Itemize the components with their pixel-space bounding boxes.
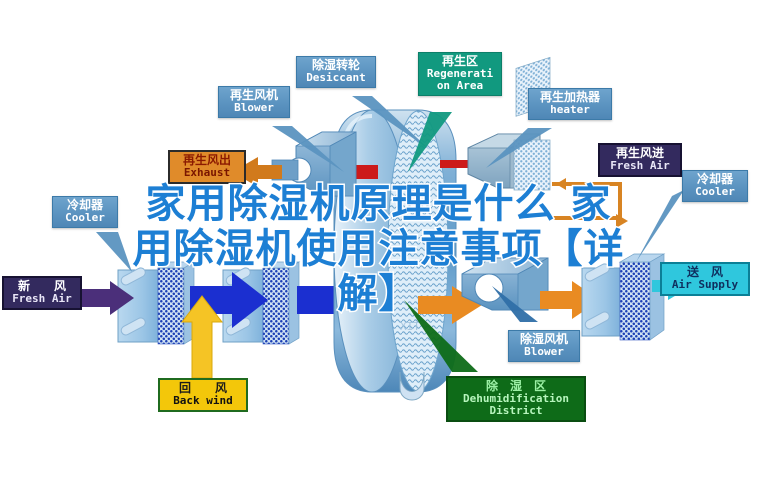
label-air-supply-cn: 送 风 [666,266,744,279]
dehumidifier-schematic-svg: XIT [0,0,757,488]
label-exhaust-en: Exhaust [174,167,240,179]
label-cooler-left-en: Cooler [57,212,113,224]
label-back-wind-cn: 回 风 [164,382,242,395]
label-regeneration-area: 再生区 Regenerati on Area [418,52,502,96]
label-regen-blower-en: Blower [223,102,285,114]
label-cooler-left: 冷却器 Cooler [52,196,118,228]
label-fresh-air: 新 风 Fresh Air [2,276,82,310]
cooling-coil-1 [118,262,194,344]
regen-air-loop [552,184,620,218]
label-regen-fresh-cn: 再生风进 [604,147,676,160]
label-exhaust-cn: 再生风出 [174,154,240,167]
label-dehum-district-cn: 除 湿 区 [452,380,580,393]
label-regen-area-cn: 再生区 [423,55,497,68]
regen-blower-housing [272,132,356,196]
label-dehumidify-blower: 除湿风机 Blower [508,330,580,362]
label-regen-area-en2: on Area [423,80,497,92]
label-cooler-right-cn: 冷却器 [687,173,743,186]
label-air-supply: 送 风 Air Supply [660,262,750,296]
label-cooler-left-cn: 冷却器 [57,199,113,212]
label-regen-blower: 再生风机 Blower [218,86,290,118]
label-back-wind-en: Back wind [164,395,242,407]
label-cooler-right-en: Cooler [687,186,743,198]
label-dehum-blower-en: Blower [513,346,575,358]
label-cooler-right: 冷却器 Cooler [682,170,748,202]
diagram-canvas: XIT [0,0,757,488]
label-desiccant-en: Desiccant [301,72,371,84]
label-desiccant-rotor: 除湿转轮 Desiccant [296,56,376,88]
label-regen-fresh-en: Fresh Air [604,160,676,172]
label-desiccant-cn: 除湿转轮 [301,59,371,72]
arrow-orange-regen-return [540,212,600,230]
label-regen-blower-cn: 再生风机 [223,89,285,102]
svg-text:XIT: XIT [400,320,420,333]
label-regen-fresh-air: 再生风进 Fresh Air [598,143,682,177]
label-dehumidification-district: 除 湿 区 Dehumidification District [446,376,586,422]
label-heater-cn: 再生加热器 [533,91,607,104]
label-air-supply-en: Air Supply [666,279,744,291]
label-regen-exhaust: 再生风出 Exhaust [168,150,246,184]
label-dehum-district-en2: District [452,405,580,417]
label-regeneration-heater: 再生加热器 heater [528,88,612,120]
cooling-coil-3 [582,254,664,340]
label-fresh-air-en: Fresh Air [8,293,76,305]
label-dehum-blower-cn: 除湿风机 [513,333,575,346]
label-heater-en: heater [533,104,607,116]
label-back-wind: 回 风 Back wind [158,378,248,412]
label-fresh-air-cn: 新 风 [8,280,76,293]
